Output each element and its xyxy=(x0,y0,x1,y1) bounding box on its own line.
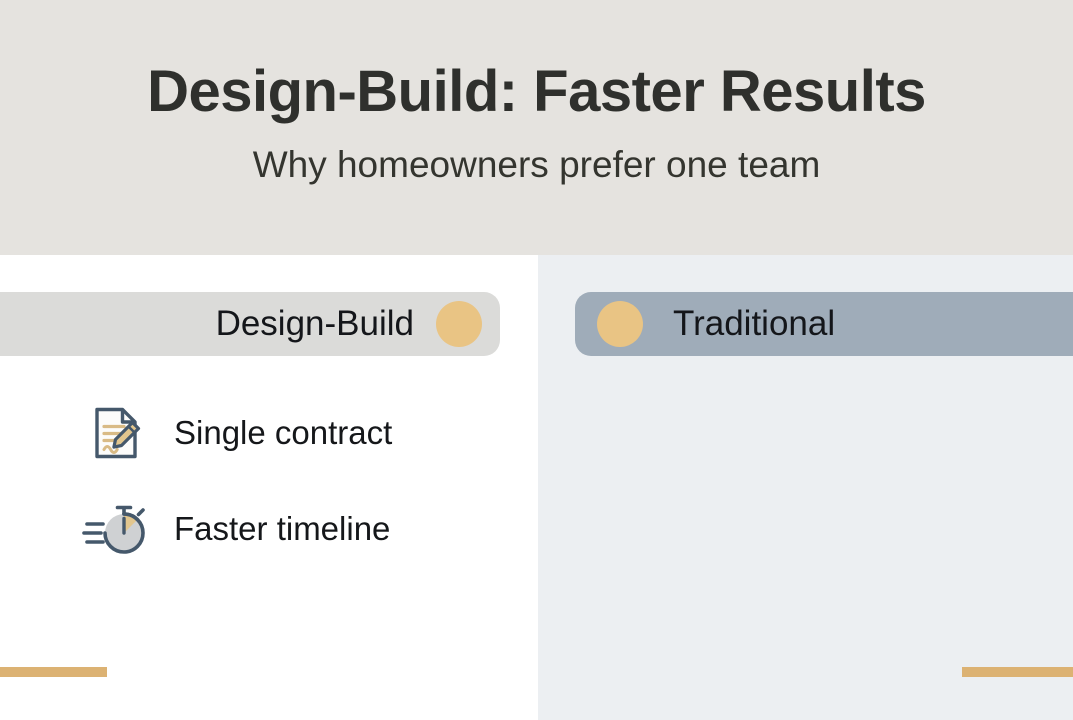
list-item: Faster timeline xyxy=(0,481,538,577)
page-title: Design-Build: Faster Results xyxy=(147,63,926,121)
feature-label: Faster timeline xyxy=(174,510,390,548)
column-header-traditional[interactable]: Traditional xyxy=(575,292,1073,356)
panel-traditional: Traditional xyxy=(538,255,1073,720)
accent-bar-right xyxy=(962,667,1073,677)
column-title-design-build: Design-Build xyxy=(216,304,414,344)
list-item: Longer delays xyxy=(538,481,1073,577)
feature-label: Single contract xyxy=(174,414,392,452)
list-item: Multiple contracts xyxy=(538,385,1073,481)
comparison-panels: Design-Build xyxy=(0,255,1073,720)
stopwatch-fast-icon xyxy=(82,495,150,563)
list-item: Single contract xyxy=(0,385,538,481)
page-subtitle: Why homeowners prefer one team xyxy=(253,146,821,183)
accent-bar-left xyxy=(0,667,107,677)
panel-design-build: Design-Build xyxy=(0,255,538,720)
contract-signed-icon xyxy=(82,399,150,467)
feature-list-traditional: Multiple contracts Longer delays xyxy=(538,385,1073,577)
accent-dot-icon xyxy=(597,301,643,347)
column-title-traditional: Traditional xyxy=(673,304,835,344)
infographic-canvas: Design-Build: Faster Results Why homeown… xyxy=(0,0,1073,720)
header-band: Design-Build: Faster Results Why homeown… xyxy=(0,0,1073,255)
column-header-design-build[interactable]: Design-Build xyxy=(0,292,500,356)
feature-list-design-build: Single contract xyxy=(0,385,538,577)
accent-dot-icon xyxy=(436,301,482,347)
